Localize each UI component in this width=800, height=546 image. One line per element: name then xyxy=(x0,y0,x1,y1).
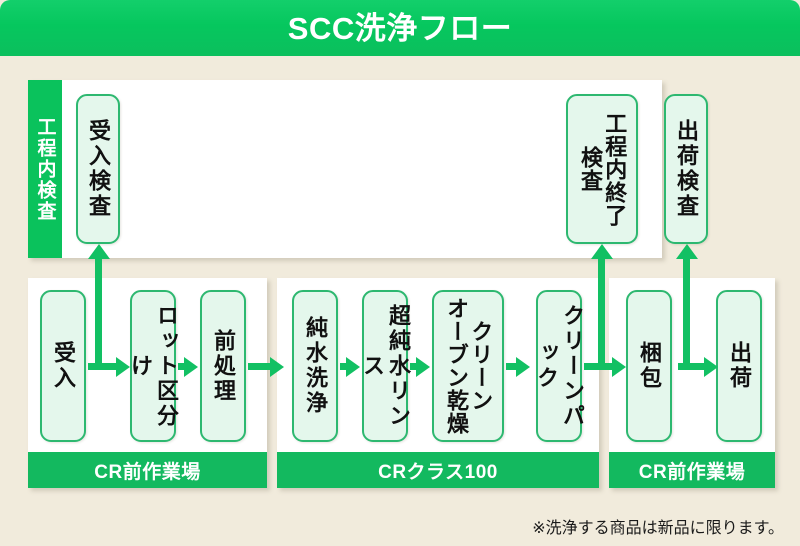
step-lot-sorting-label: ロット区分け xyxy=(127,292,179,440)
shipping-inspection-box[interactable]: 出荷検査 xyxy=(664,94,708,244)
step-packing-label: 梱包 xyxy=(636,341,662,391)
shipping-inspection-label: 出荷検査 xyxy=(673,119,699,219)
receiving-inspection-box[interactable]: 受入検査 xyxy=(76,94,120,244)
arrow-oven-to-cleanpack xyxy=(516,357,530,377)
step-clean-oven-dry-box[interactable]: クリーンオーブン乾燥 xyxy=(432,290,504,442)
step-receiving-box[interactable]: 受入 xyxy=(40,290,86,442)
connector-branch-to-receiving-inspection xyxy=(95,258,102,367)
connector-branch-to-process-end-inspection xyxy=(598,258,605,367)
group-footer-pre-cr-1: CR前作業場 xyxy=(28,452,267,488)
step-shipping-box[interactable]: 出荷 xyxy=(716,290,762,442)
footnote: ※洗浄する商品は新品に限ります。 xyxy=(532,514,784,538)
title-bar: SCC洗浄フロー xyxy=(0,0,800,56)
step-clean-pack-box[interactable]: クリーンパック xyxy=(536,290,582,442)
step-clean-oven-dry-label: クリーンオーブン乾燥 xyxy=(444,297,492,435)
step-ultrapure-water-rinse-box[interactable]: 超純水リンス xyxy=(362,290,408,442)
group-footer-cr-class-100: CRクラス100 xyxy=(277,452,599,488)
arrow-packing-to-shipping xyxy=(704,357,718,377)
process-end-inspection-label: 工程内終了検査 xyxy=(578,112,626,227)
step-shipping-label: 出荷 xyxy=(726,341,752,391)
group-footer-pre-cr-2: CR前作業場 xyxy=(609,452,775,488)
inspection-band-label: 工程内検査 xyxy=(36,117,55,222)
connector-branch-to-shipping-inspection xyxy=(683,258,690,367)
arrow-cleanpack-to-packing xyxy=(612,357,626,377)
arrow-rinse-to-oven xyxy=(416,357,430,377)
arrow-pretreatment-to-purewater xyxy=(270,357,284,377)
step-packing-box[interactable]: 梱包 xyxy=(626,290,672,442)
receiving-inspection-label: 受入検査 xyxy=(85,119,111,219)
step-ultrapure-water-rinse-label: 超純水リンス xyxy=(359,292,411,440)
arrow-up-receiving-inspection xyxy=(88,244,110,259)
arrow-lot-to-pretreatment xyxy=(184,357,198,377)
arrow-purewater-to-rinse xyxy=(346,357,360,377)
step-clean-pack-label: クリーンパック xyxy=(533,292,585,440)
step-pure-water-wash-box[interactable]: 純水洗浄 xyxy=(292,290,338,442)
step-receiving-label: 受入 xyxy=(50,341,76,391)
connector-pretreatment-to-purewater xyxy=(248,363,272,370)
page-title: SCC洗浄フロー xyxy=(288,13,512,44)
step-lot-sorting-box[interactable]: ロット区分け xyxy=(130,290,176,442)
process-end-inspection-box[interactable]: 工程内終了検査 xyxy=(566,94,638,244)
group-footer-label: CRクラス100 xyxy=(378,457,498,484)
arrow-receiving-to-lot xyxy=(116,357,130,377)
step-pre-treatment-box[interactable]: 前処理 xyxy=(200,290,246,442)
connector-receiving-to-lot xyxy=(88,363,118,370)
step-pre-treatment-label: 前処理 xyxy=(210,329,236,404)
inspection-band: 工程内検査 xyxy=(28,80,62,258)
arrow-up-shipping-inspection xyxy=(676,244,698,259)
step-pure-water-wash-label: 純水洗浄 xyxy=(302,316,328,416)
group-footer-label: CR前作業場 xyxy=(94,457,200,484)
arrow-up-process-end-inspection xyxy=(591,244,613,259)
group-footer-label: CR前作業場 xyxy=(639,457,745,484)
